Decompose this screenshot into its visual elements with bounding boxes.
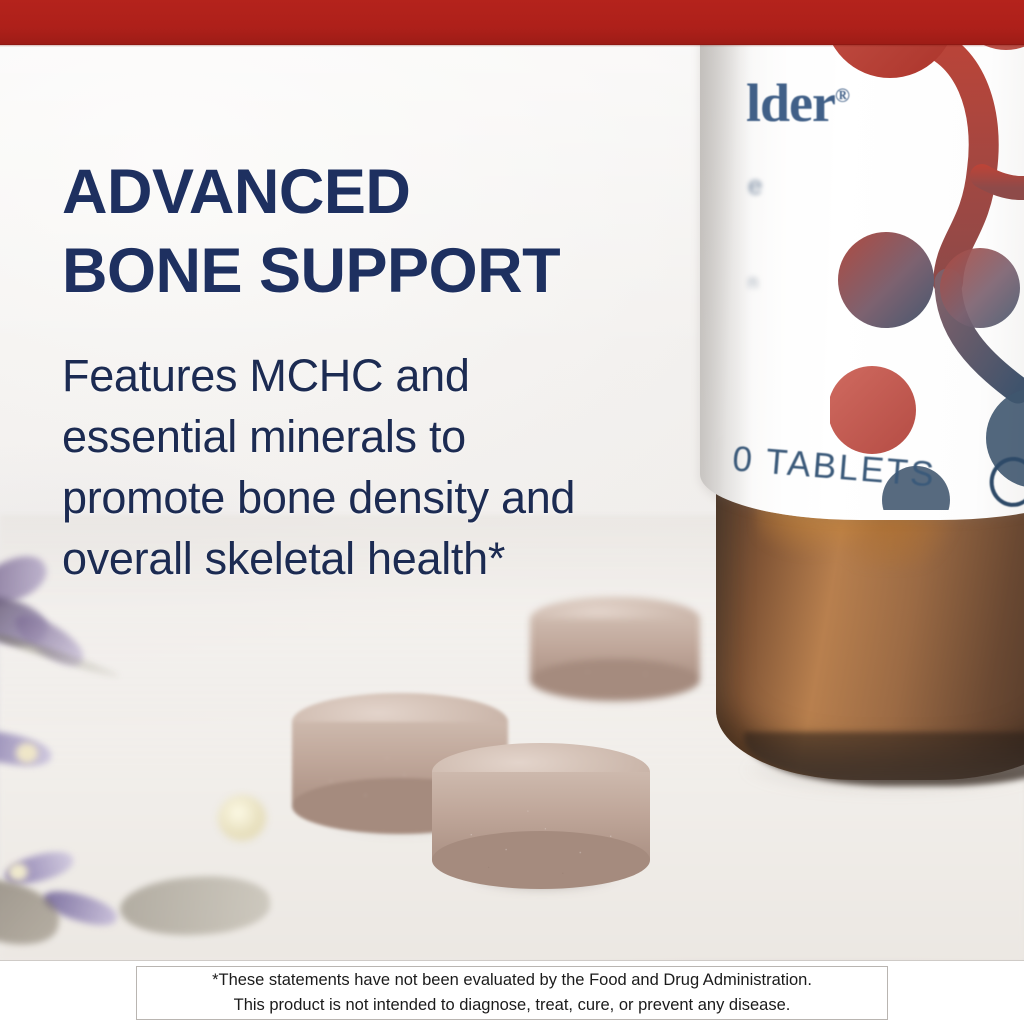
dried-leaf xyxy=(118,872,272,940)
hero-body-text: Features MCHC and essential minerals to … xyxy=(62,345,622,589)
seed-head xyxy=(218,795,266,841)
bottle-label-subtext: e xyxy=(748,170,763,201)
tablet-background xyxy=(530,597,700,701)
product-marketing-image: lder® e n 0 TABLETS ADVANCED BONE SUPPOR… xyxy=(0,0,1024,1024)
headline-line-2: BONE SUPPORT xyxy=(62,232,742,311)
fda-disclaimer-box: *These statements have not been evaluate… xyxy=(136,966,888,1020)
footer-band: *These statements have not been evaluate… xyxy=(0,960,1024,1024)
page-title: ADVANCED BONE SUPPORT xyxy=(62,153,742,311)
circle-outline-icon xyxy=(988,455,1024,509)
tablet-foreground xyxy=(432,743,650,891)
botanical-decor-group xyxy=(0,555,270,960)
seed-head xyxy=(16,743,38,763)
disclaimer-line-2: This product is not intended to diagnose… xyxy=(234,993,791,1018)
headline-line-1: ADVANCED xyxy=(62,157,410,227)
molecule-graphic xyxy=(830,45,1024,510)
marketing-copy: ADVANCED BONE SUPPORT Features MCHC and … xyxy=(62,153,742,589)
tablet-texture xyxy=(530,597,700,701)
product-photo-scene: lder® e n 0 TABLETS ADVANCED BONE SUPPOR… xyxy=(0,45,1024,960)
top-red-bar xyxy=(0,0,1024,45)
bottle-label-subtext-secondary: n xyxy=(748,272,759,293)
bottle-brand-name: lder® xyxy=(746,72,849,134)
bottle-label: lder® e n 0 TABLETS xyxy=(700,45,1024,520)
brand-text: lder xyxy=(746,73,835,133)
tablet-texture xyxy=(432,743,650,891)
registered-mark-icon: ® xyxy=(835,85,849,107)
disclaimer-line-1: *These statements have not been evaluate… xyxy=(212,968,812,993)
seed-head xyxy=(8,863,28,881)
